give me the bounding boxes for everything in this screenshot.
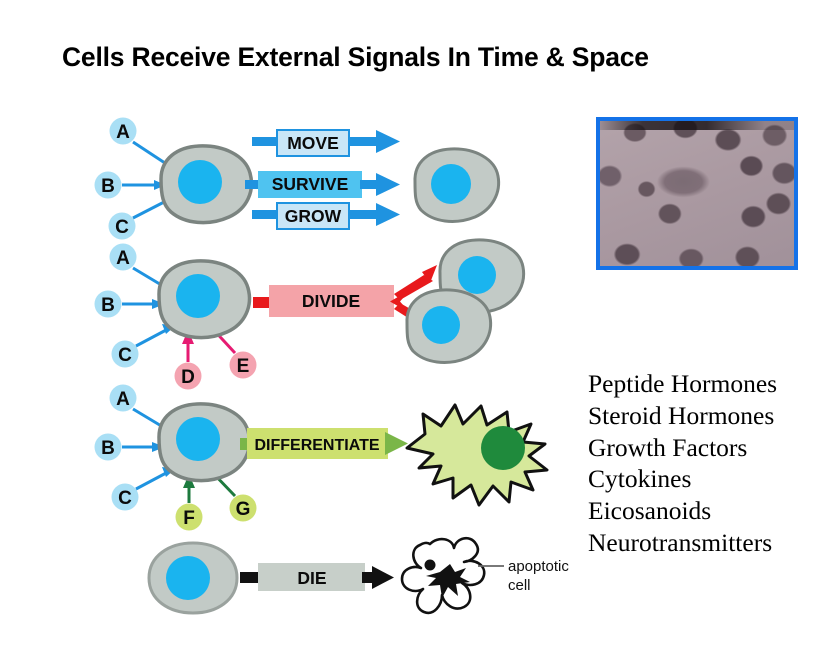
outcome-differentiate[interactable]: DIFFERENTIATE (240, 428, 408, 459)
signal-marker-a-row1[interactable]: A (110, 118, 137, 145)
outcome-label: MOVE (287, 133, 339, 153)
signal-label: E (237, 356, 250, 377)
signal-marker-b-row2[interactable]: B (95, 291, 122, 318)
nucleus (178, 160, 222, 204)
signal-marker-c-row2[interactable]: C (112, 341, 139, 368)
outcome-label: DIE (297, 568, 326, 588)
nucleus (431, 164, 471, 204)
outcome-die[interactable]: DIE (240, 563, 394, 591)
row-divide: A B C (95, 240, 524, 390)
apoptotic-cell-label-line2: cell (508, 577, 531, 594)
row-differentiate: A B C (95, 385, 548, 531)
signal-marker-c-row1[interactable]: C (109, 213, 136, 240)
outcome-grow[interactable]: GROW (252, 203, 400, 229)
nucleus (166, 556, 210, 600)
result-cell-row1 (415, 149, 499, 222)
signal-marker-b-row3[interactable]: B (95, 434, 122, 461)
signal-label: B (101, 295, 115, 316)
nucleus (176, 274, 220, 318)
nucleus (176, 417, 220, 461)
slide-canvas: Cells Receive External Signals In Time &… (0, 0, 837, 652)
outcome-label: SURVIVE (272, 174, 349, 194)
outcome-label: DIVIDE (302, 291, 360, 311)
outcome-label: DIFFERENTIATE (254, 437, 379, 454)
cell-row4 (149, 543, 237, 613)
signal-label: A (116, 248, 130, 269)
signal-marker-g-row3[interactable]: G (230, 495, 257, 522)
signal-label: A (116, 122, 130, 143)
signal-label: C (118, 488, 132, 509)
cell-row1 (161, 146, 251, 223)
row-die: DIE apoptotic cell (149, 538, 569, 613)
nucleus (481, 426, 525, 470)
cell-row2 (159, 261, 249, 338)
differentiated-cell (407, 405, 547, 505)
apoptotic-cell (402, 538, 484, 613)
signal-label: A (116, 389, 130, 410)
signal-label: B (101, 176, 115, 197)
signal-marker-a-row3[interactable]: A (110, 385, 137, 412)
signal-label: D (181, 367, 195, 388)
signal-marker-e-row2[interactable]: E (230, 352, 257, 379)
signal-label: C (118, 345, 132, 366)
signal-label: C (115, 217, 129, 238)
nucleus (422, 306, 460, 344)
outcome-label: GROW (285, 206, 342, 226)
signal-response-diagram: A B C (0, 0, 837, 652)
signal-marker-f-row3[interactable]: F (176, 504, 203, 531)
signal-marker-d-row2[interactable]: D (175, 363, 202, 390)
signal-label: B (101, 438, 115, 459)
apoptotic-cell-label-line1: apoptotic (508, 558, 569, 575)
signal-label: G (236, 499, 251, 520)
cell-row3 (159, 404, 249, 481)
row-move-survive-grow: A B C (95, 118, 499, 240)
outcome-move[interactable]: MOVE (252, 130, 400, 156)
nucleus (458, 256, 496, 294)
signal-marker-b-row1[interactable]: B (95, 172, 122, 199)
signal-marker-c-row3[interactable]: C (112, 484, 139, 511)
signal-label: F (183, 508, 195, 529)
signal-marker-a-row2[interactable]: A (110, 244, 137, 271)
outcome-survive[interactable]: SURVIVE (245, 171, 400, 198)
daughter-cell-lower (407, 290, 491, 363)
